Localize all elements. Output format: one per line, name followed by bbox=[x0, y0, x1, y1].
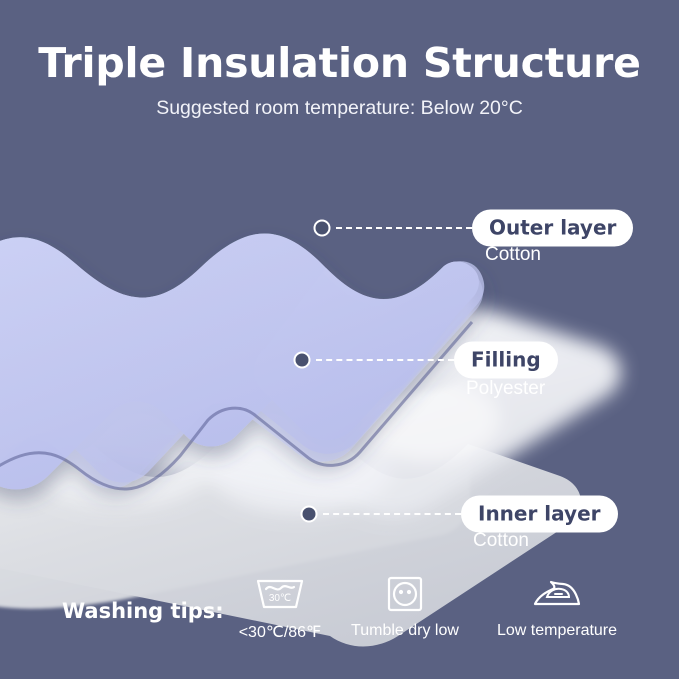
callout-line-inner-layer bbox=[323, 513, 461, 515]
tumble-dry-icon-svg bbox=[384, 573, 426, 615]
callout-line-outer-layer bbox=[336, 227, 472, 229]
wash-tub-temp-value: 30℃ bbox=[269, 593, 291, 604]
callout-line-filling bbox=[316, 359, 454, 361]
iron-icon bbox=[472, 573, 642, 615]
callout-material-inner-layer: Cotton bbox=[473, 530, 529, 552]
callout-dot-inner-layer[interactable] bbox=[301, 506, 318, 523]
callout-dot-outer-layer[interactable] bbox=[314, 220, 331, 237]
wash-tub-icon-svg: 30℃ bbox=[252, 573, 308, 615]
infographic-canvas: Triple Insulation Structure Suggested ro… bbox=[0, 0, 679, 679]
callout-dot-filling[interactable] bbox=[294, 352, 311, 369]
callout-pill-outer-layer[interactable]: Outer layer bbox=[472, 210, 633, 247]
washing-tips-section: Washing tips: 30℃ <30℃/86℉ bbox=[0, 569, 679, 679]
callout-material-filling: Polyester bbox=[466, 378, 545, 400]
care-caption-iron-temp: Low temperature bbox=[472, 622, 642, 640]
iron-icon-svg bbox=[529, 573, 585, 615]
tumble-dry-icon bbox=[320, 573, 490, 615]
care-item-tumble-dry: Tumble dry low bbox=[320, 573, 490, 640]
callout-material-outer-layer: Cotton bbox=[485, 244, 541, 266]
care-caption-tumble-dry: Tumble dry low bbox=[320, 622, 490, 640]
callout-pill-inner-layer[interactable]: Inner layer bbox=[461, 496, 618, 533]
care-item-iron-temp: Low temperature bbox=[472, 573, 642, 640]
callout-pill-filling[interactable]: Filling bbox=[454, 342, 558, 379]
